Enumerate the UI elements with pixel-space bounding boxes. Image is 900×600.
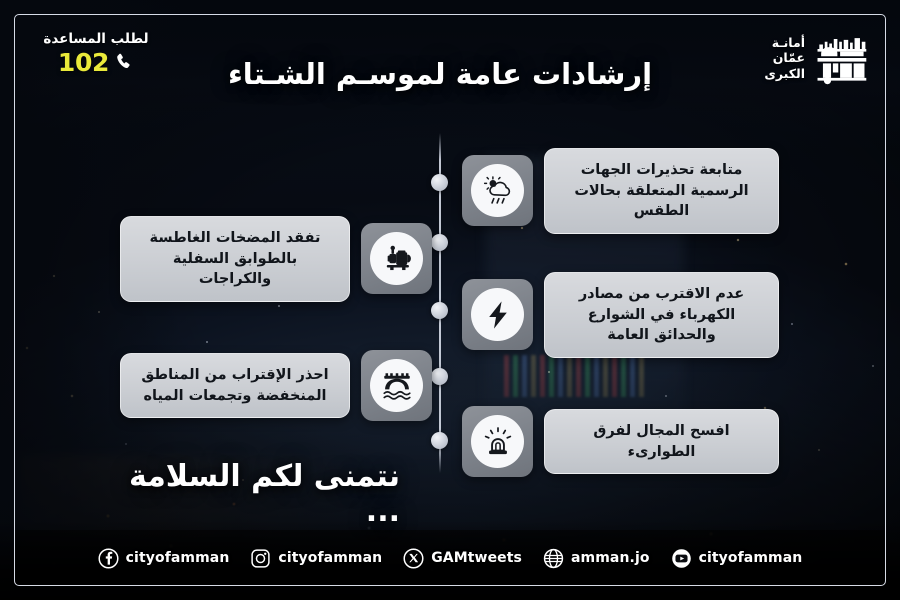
social-handle[interactable]: cityofamman	[278, 550, 382, 566]
icon-circle	[471, 164, 524, 217]
timeline-dot	[431, 234, 448, 251]
tip-icon-tile	[462, 155, 533, 226]
tip-card: تفقد المضخات الغاطسة بالطوابق السفلية وا…	[120, 216, 350, 302]
timeline-dot	[431, 368, 448, 385]
amman-municipality-emblem-icon	[812, 30, 870, 86]
instagram-icon[interactable]	[250, 548, 271, 569]
icon-circle	[471, 415, 524, 468]
tip-icon-tile	[361, 350, 432, 421]
phone-icon	[114, 52, 134, 72]
timeline-dot	[431, 302, 448, 319]
tip-item-low-areas-water: احذر الإقتراب من المناطق المنخفضة وتجمعا…	[120, 350, 432, 421]
emergency-siren-icon	[481, 425, 515, 459]
page-title: إرشادات عامة لموسـم الشـتاء	[180, 57, 700, 91]
social-item-facebook[interactable]: cityofamman	[98, 548, 230, 569]
icon-circle	[370, 232, 423, 285]
social-item-instagram[interactable]: cityofamman	[250, 548, 382, 569]
logo-line-2: عمّان	[764, 50, 805, 65]
facebook-icon[interactable]	[98, 548, 119, 569]
tip-item-emergency-access: افسح المجال لفرق الطوارىء	[462, 406, 779, 477]
safety-slogan: نتمنى لكم السلامة ...	[100, 459, 400, 529]
x-twitter-icon[interactable]	[403, 548, 424, 569]
social-footer: cityofamman cityofamman GAMtweets a	[14, 530, 886, 586]
tip-card: احذر الإقتراب من المناطق المنخفضة وتجمعا…	[120, 353, 350, 418]
social-handle[interactable]: cityofamman	[126, 550, 230, 566]
globe-icon[interactable]	[543, 548, 564, 569]
tip-item-weather-warnings: متابعة تحذيرات الجهات الرسمية المتعلقة ب…	[462, 148, 779, 234]
social-item-youtube[interactable]: cityofamman	[671, 548, 803, 569]
rain-cloud-sun-icon	[481, 174, 515, 208]
tip-card: عدم الاقترب من مصادر الكهرباء في الشوارع…	[544, 272, 779, 358]
water-pump-icon	[380, 242, 414, 276]
social-item-website[interactable]: amman.jo	[543, 548, 650, 569]
tip-icon-tile	[462, 406, 533, 477]
tip-icon-tile	[462, 279, 533, 350]
timeline-dot	[431, 432, 448, 449]
lightning-bolt-icon	[482, 299, 514, 331]
helpline-label: لطلب المساعدة	[36, 32, 156, 47]
tip-card: متابعة تحذيرات الجهات الرسمية المتعلقة ب…	[544, 148, 779, 234]
timeline-dot	[431, 174, 448, 191]
helpline-block: لطلب المساعدة 102	[36, 32, 156, 75]
tip-item-submersible-pumps: تفقد المضخات الغاطسة بالطوابق السفلية وا…	[120, 216, 432, 302]
social-handle[interactable]: GAMtweets	[431, 550, 522, 566]
social-item-x[interactable]: GAMtweets	[403, 548, 522, 569]
bridge-water-icon	[380, 369, 414, 403]
winter-guidelines-poster: لطلب المساعدة 102 إرشادات عامة لموسـم ال…	[0, 0, 900, 600]
social-handle[interactable]: amman.jo	[571, 550, 650, 566]
tip-icon-tile	[361, 223, 432, 294]
helpline-number: 102	[58, 50, 109, 75]
icon-circle	[471, 288, 524, 341]
tip-card: افسح المجال لفرق الطوارىء	[544, 409, 779, 474]
youtube-icon[interactable]	[671, 548, 692, 569]
logo-line-3: الكبرى	[764, 66, 805, 81]
municipality-logo: أمانـة عمّان الكبرى	[764, 30, 870, 86]
social-handle[interactable]: cityofamman	[699, 550, 803, 566]
helpline-number-row: 102	[36, 50, 156, 75]
logo-line-1: أمانـة	[764, 35, 805, 50]
tip-item-electricity-hazard: عدم الاقترب من مصادر الكهرباء في الشوارع…	[462, 272, 779, 358]
icon-circle	[370, 359, 423, 412]
logo-text: أمانـة عمّان الكبرى	[764, 35, 805, 81]
